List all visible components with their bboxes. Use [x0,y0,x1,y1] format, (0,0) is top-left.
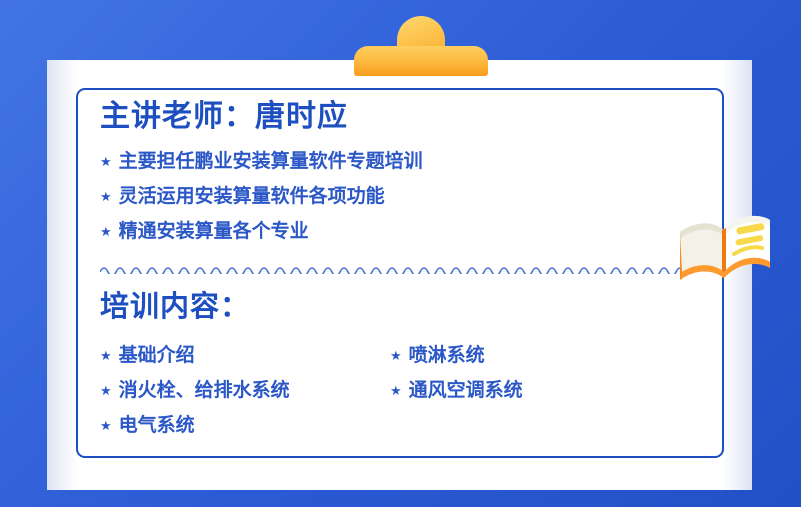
list-item: ★ 精通安装算量各个专业 [100,214,710,249]
wavy-divider-icon [100,263,692,274]
instructor-section: 主讲老师：唐时应 ★ 主要担任鹏业安装算量软件专题培训 ★ 灵活运用安装算量软件… [100,96,710,249]
list-item: ★ 喷淋系统 [390,338,523,373]
star-icon: ★ [390,349,402,362]
list-item-label: 精通安装算量各个专业 [119,214,309,249]
training-right-column: ★ 喷淋系统 ★ 通风空调系统 [390,338,523,408]
list-item: ★ 灵活运用安装算量软件各项功能 [100,179,710,214]
poster-root: 主讲老师：唐时应 ★ 主要担任鹏业安装算量软件专题培训 ★ 灵活运用安装算量软件… [0,0,801,507]
list-item: ★ 主要担任鹏业安装算量软件专题培训 [100,144,710,179]
clip-badge-icon [354,16,488,76]
list-item-label: 通风空调系统 [409,373,523,408]
list-item-label: 灵活运用安装算量软件各项功能 [119,179,385,214]
star-icon: ★ [100,190,112,203]
list-item-label: 电气系统 [119,408,195,443]
open-book-icon [678,196,776,288]
star-icon: ★ [100,155,112,168]
instructor-bullet-list: ★ 主要担任鹏业安装算量软件专题培训 ★ 灵活运用安装算量软件各项功能 ★ 精通… [100,144,710,249]
list-item: ★ 消火栓、给排水系统 [100,373,290,408]
star-icon: ★ [390,384,402,397]
training-left-column: ★ 基础介绍 ★ 消火栓、给排水系统 ★ 电气系统 [100,338,290,443]
wavy-divider [100,262,692,274]
star-icon: ★ [100,384,112,397]
list-item-label: 基础介绍 [119,338,195,373]
training-section: 培训内容： ★ 基础介绍 ★ 消火栓、给排水系统 ★ 电气系统 ★ [100,286,700,452]
card-left-shadow [47,60,77,490]
list-item: ★ 基础介绍 [100,338,290,373]
list-item: ★ 通风空调系统 [390,373,523,408]
list-item-label: 主要担任鹏业安装算量软件专题培训 [119,144,423,179]
star-icon: ★ [100,349,112,362]
instructor-heading: 主讲老师：唐时应 [100,96,710,138]
list-item: ★ 电气系统 [100,408,290,443]
star-icon: ★ [100,419,112,432]
training-columns: ★ 基础介绍 ★ 消火栓、给排水系统 ★ 电气系统 ★ 喷淋系统 ★ [100,332,700,452]
clip-base [354,46,488,76]
list-item-label: 消火栓、给排水系统 [119,373,290,408]
training-heading: 培训内容： [100,286,700,328]
open-book-graphic [678,196,776,288]
list-item-label: 喷淋系统 [409,338,485,373]
star-icon: ★ [100,225,112,238]
